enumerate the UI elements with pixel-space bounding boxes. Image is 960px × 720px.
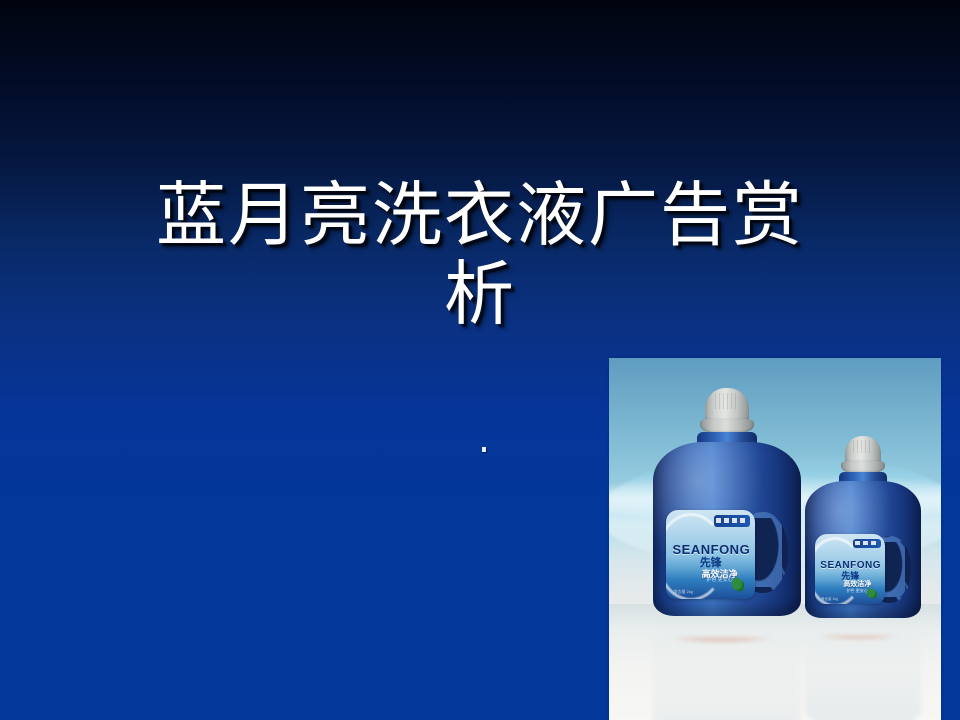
bottle-cap-small [845,436,881,464]
presentation-slide: 蓝月亮洗衣液广告赏 析 SEANFONG 先锋 高效洁净 [0,0,960,720]
net-weight-small: 净含量 1kg [821,597,838,602]
leaf-icon [867,588,877,599]
net-weight-large: 净含量 2kg [673,589,693,595]
label-top-banner-small [853,539,881,548]
bottle-collar-large [700,419,754,433]
bottle-label-small: SEANFONG 先锋 高效洁净 护色 更安心 净含量 1kg [815,534,885,604]
cap-ribs-icon [853,440,873,453]
slide-title-line-1: 蓝月亮洗衣液广告赏 [156,174,804,256]
label-top-banner-large [714,515,750,527]
bottle-label-large: SEANFONG 先锋 高效洁净 护色 更安心 净含量 2kg [666,510,755,599]
bottle-reflection-large [653,616,801,720]
product-photo[interactable]: SEANFONG 先锋 高效洁净 护色 更安心 净含量 2kg [609,358,941,720]
detergent-bottle-large: SEANFONG 先锋 高效洁净 护色 更安心 净含量 2kg [653,432,801,616]
cap-ribs-icon [715,393,740,409]
bottle-body-large: SEANFONG 先锋 高效洁净 护色 更安心 净含量 2kg [653,442,801,616]
bottle-reflection-small [805,618,921,720]
bottle-body-small: SEANFONG 先锋 高效洁净 护色 更安心 净含量 1kg [805,481,921,618]
leaf-icon [732,577,744,591]
bottle-cap-large [705,388,749,422]
detergent-bottle-small: SEANFONG 先锋 高效洁净 护色 更安心 净含量 1kg [805,472,921,618]
slide-title[interactable]: 蓝月亮洗衣液广告赏 析 [60,176,900,334]
bottle-reflection-accent-large [662,638,780,667]
slide-title-line-2: 析 [444,253,516,335]
bottle-reflection-accent-small [812,636,905,659]
bullet-dot [482,447,486,452]
